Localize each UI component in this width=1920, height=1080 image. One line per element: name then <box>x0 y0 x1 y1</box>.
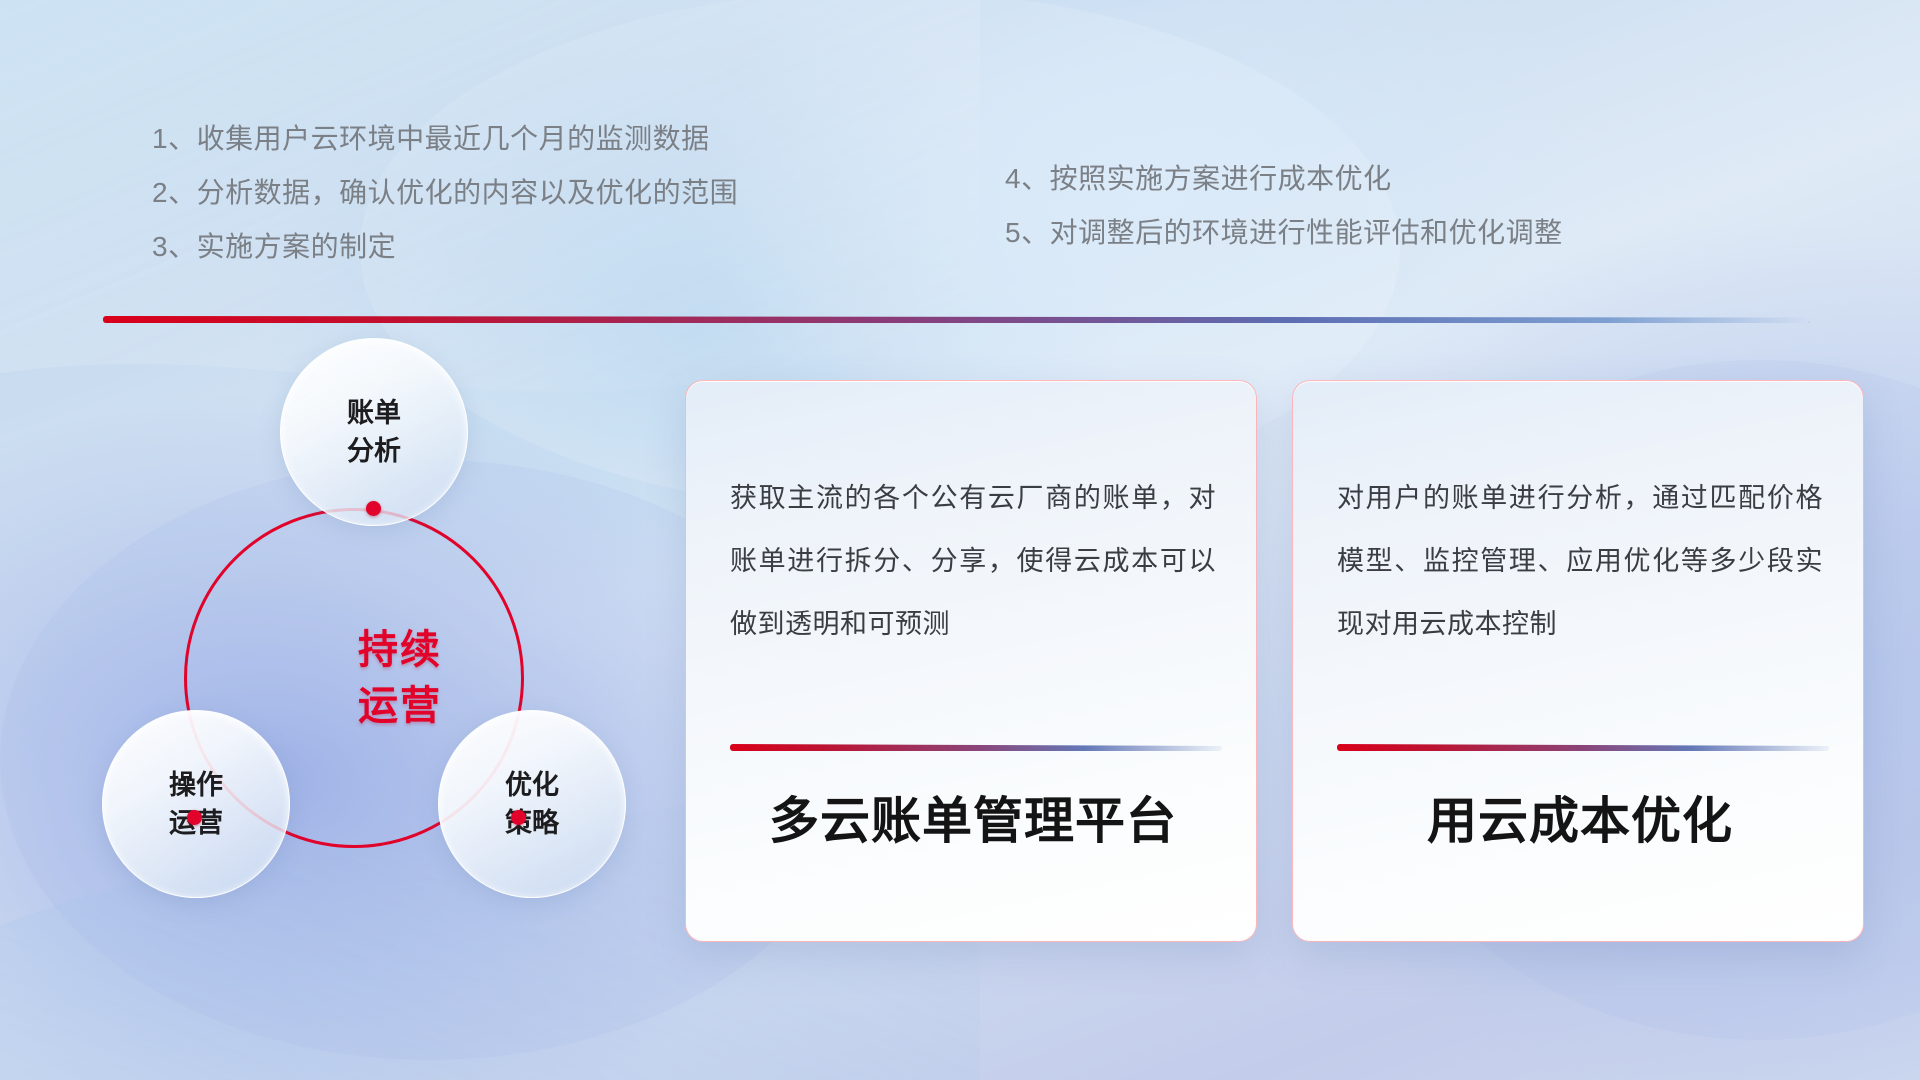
card-2-divider <box>1337 744 1829 751</box>
node-dot-top <box>366 501 381 516</box>
center-label-line1: 持续 <box>358 622 442 678</box>
step-item-2: 2、分析数据，确认优化的内容以及优化的范围 <box>152 166 738 220</box>
bubble-operations[interactable]: 操作 运营 <box>102 710 290 898</box>
bubble-optimization-strategy-line1: 优化 <box>505 766 559 804</box>
card-2-title: 用云成本优化 <box>1337 781 1823 853</box>
slide-canvas: 1、收集用户云环境中最近几个月的监测数据 2、分析数据，确认优化的内容以及优化的… <box>0 0 1920 1080</box>
bubble-bill-analysis-line1: 账单 <box>347 394 401 432</box>
step-item-3: 3、实施方案的制定 <box>152 220 738 274</box>
bubble-operations-line1: 操作 <box>169 766 223 804</box>
bubble-optimization-strategy[interactable]: 优化 策略 <box>438 710 626 898</box>
step-item-4: 4、按照实施方案进行成本优化 <box>1005 152 1563 206</box>
step-item-1: 1、收集用户云环境中最近几个月的监测数据 <box>152 112 738 166</box>
node-dot-left <box>187 810 202 825</box>
step-item-5: 5、对调整后的环境进行性能评估和优化调整 <box>1005 206 1563 260</box>
card-1-title: 多云账单管理平台 <box>730 781 1216 853</box>
card-multicloud-billing-platform[interactable]: 获取主流的各个公有云厂商的账单，对账单进行拆分、分享，使得云成本可以做到透明和可… <box>685 380 1257 942</box>
bubble-bill-analysis-line2: 分析 <box>347 432 401 470</box>
center-label-line2: 运营 <box>358 678 442 734</box>
section-divider-rule <box>103 316 1810 323</box>
node-dot-right <box>511 810 526 825</box>
card-1-divider <box>730 744 1222 751</box>
venn-diagram: 持续 运营 账单 分析 操作 运营 优化 策略 <box>90 338 650 968</box>
card-1-body: 获取主流的各个公有云厂商的账单，对账单进行拆分、分享，使得云成本可以做到透明和可… <box>730 467 1216 656</box>
bubble-bill-analysis[interactable]: 账单 分析 <box>280 338 468 526</box>
steps-list-left: 1、收集用户云环境中最近几个月的监测数据 2、分析数据，确认优化的内容以及优化的… <box>152 112 738 274</box>
card-2-body: 对用户的账单进行分析，通过匹配价格模型、监控管理、应用优化等多少段实现对用云成本… <box>1337 467 1823 656</box>
steps-list-right: 4、按照实施方案进行成本优化 5、对调整后的环境进行性能评估和优化调整 <box>1005 152 1563 260</box>
card-cloud-cost-optimization[interactable]: 对用户的账单进行分析，通过匹配价格模型、监控管理、应用优化等多少段实现对用云成本… <box>1292 380 1864 942</box>
